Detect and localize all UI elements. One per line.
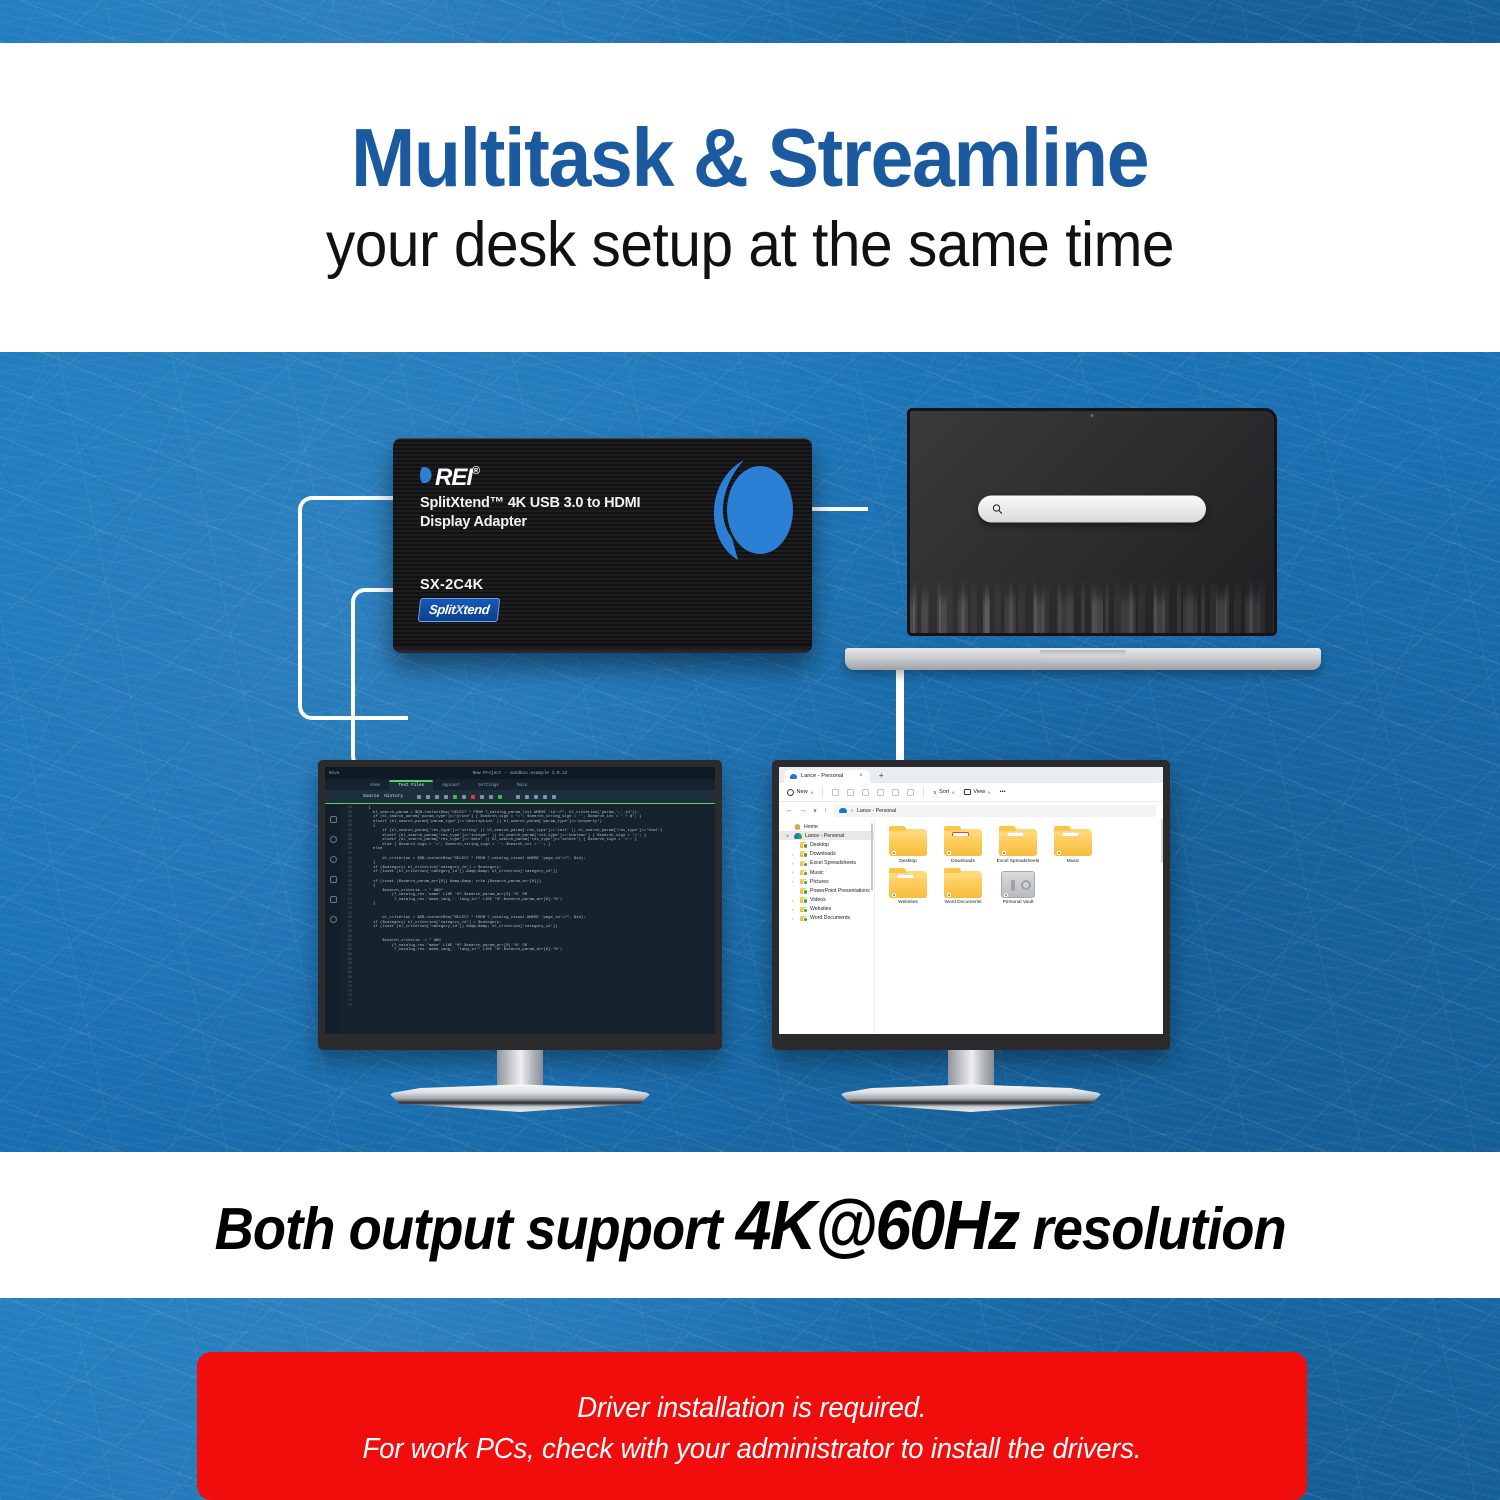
sidebar-item-label: Lance - Personal [805,833,844,839]
chevron-right-icon[interactable]: › [792,916,797,921]
ide-tool-icon-4[interactable] [444,795,448,799]
ide-rail-warning-icon[interactable] [330,816,337,823]
ide-tab-home[interactable]: Home [361,782,389,790]
sort-button[interactable]: ⇅ Sort ∨ [933,789,955,795]
splitxtend-badge: SplitXtend [418,598,501,622]
sidebar-item-music[interactable]: ›Music [779,868,874,877]
ide-rail-debug-icon[interactable] [330,856,337,863]
sidebar-item-label: Pictures [810,879,829,885]
chevron-right-icon[interactable]: › [792,879,797,884]
ide-tool-icon-8[interactable] [516,795,520,799]
file-item-label: Music [1067,859,1080,865]
onedrive-icon [794,833,802,839]
explorer-body: Home∨Lance - PersonalDesktop›Downloads›E… [779,819,1163,1034]
badge-text-right: tend [463,602,490,617]
page-subtitle: your desk setup at the same time [326,211,1174,280]
explorer-sidebar[interactable]: Home∨Lance - PersonalDesktop›Downloads›E… [779,819,875,1034]
file-item-label: Websites [898,900,918,906]
file-grid-item[interactable]: Desktop [884,827,932,865]
new-tab-button[interactable]: + [879,771,884,780]
ide-tab-main[interactable]: Main [508,782,536,790]
folder-icon [800,870,807,876]
ide-pause-icon[interactable] [462,795,466,799]
folder-icon [800,897,807,903]
orei-emblem-icon [698,452,798,572]
right-monitor-screen: Lance - Personal × + New ∨ [779,767,1163,1034]
ide-code-area[interactable]: { bl_search_param = $DB->selectRow("SELE… [355,804,715,1034]
resolution-banner: Both output support 4K@60Hz resolution [0,1152,1500,1298]
view-button[interactable]: View ∨ [964,789,991,795]
home-icon [794,824,801,830]
sort-icon: ⇅ [933,790,936,795]
ide-tool-icon-6[interactable] [489,795,493,799]
ide-tab-text-files[interactable]: Text Files [389,780,433,790]
explorer-tab-title: Lance - Personal [801,773,843,779]
chevron-right-icon[interactable]: › [792,907,797,912]
marketing-page: Multitask & Streamline your desk setup a… [0,0,1500,1500]
sync-status-badge [892,893,896,897]
folder-icon [800,851,807,857]
folder-icon [800,861,807,867]
ide-activity-rail[interactable] [325,804,341,1034]
file-grid-item[interactable]: Music [1049,827,1097,865]
file-item-label: Desktop [899,859,917,865]
sidebar-item-label: PowerPoint Presentations [810,888,870,894]
orei-swoosh-icon [420,464,434,486]
close-icon[interactable]: × [859,773,863,779]
view-icon [964,789,971,795]
ide-tool-icon-10[interactable] [534,795,538,799]
sidebar-item-downloads[interactable]: ›Downloads [779,850,874,859]
sync-status-badge [1002,851,1006,855]
file-grid-item[interactable]: Websites [884,869,932,907]
sidebar-item-powerpoint-presentations[interactable]: PowerPoint Presentations [779,886,874,895]
sidebar-item-label: Music [810,870,824,876]
orei-logo: REI® [420,464,479,492]
headline-section: Multitask & Streamline your desk setup a… [0,43,1500,352]
ide-title-bar: Nova New Project - sandbox.example 1.0.1… [325,767,715,779]
ide-tab-strip[interactable]: Home Text Files Appcast Settings Main [325,779,715,790]
ide-toolbar[interactable]: Source History [325,790,715,804]
folder-icon [800,879,807,885]
ide-tool-icon-5[interactable] [480,795,484,799]
adapter-product-line-1: SplitXtend™ 4K USB 3.0 to HDMI [420,495,640,511]
breadcrumb[interactable]: › Lance - Personal [834,805,1156,817]
sidebar-item-websites[interactable]: ›Websites [779,905,874,914]
ide-stop-icon[interactable] [471,795,475,799]
ide-project-label: New Project - sandbox.example 1.0.12 [473,771,568,776]
forward-button[interactable]: → [800,807,807,814]
sidebar-item-label: Desktop [810,842,829,848]
explorer-address-row[interactable]: ← → ∨ ↑ › Lance - Personal [779,802,1163,819]
explorer-active-tab[interactable]: Lance - Personal × [784,770,870,783]
ide-tool-icon-9[interactable] [525,795,529,799]
sync-status-badge [892,851,896,855]
file-icon-wrapper [1054,827,1092,856]
cut-icon[interactable] [832,789,839,796]
rename-icon[interactable] [877,789,884,796]
file-explorer-app: Lance - Personal × + New ∨ [779,767,1163,1034]
cable-laptop-drop [896,660,904,772]
chevron-right-icon[interactable]: › [792,870,797,875]
file-icon-wrapper [999,827,1037,856]
chevron-down-icon: ∨ [810,790,813,795]
webcam-icon [1091,414,1094,417]
sidebar-item-label: Websites [810,906,831,912]
copy-icon[interactable] [847,789,854,796]
folder-icon [800,842,807,848]
sidebar-item-pictures[interactable]: ›Pictures [779,877,874,886]
sidebar-item-desktop[interactable]: Desktop [779,840,874,849]
ide-run-icon[interactable] [453,795,457,799]
left-monitor-screen: Nova New Project - sandbox.example 1.0.1… [325,767,715,1034]
laptop-screen [907,408,1277,636]
driver-notice-banner: Driver installation is required. For wor… [197,1352,1307,1500]
folder-icon [800,916,807,922]
file-grid-item[interactable]: Word Documents [939,869,987,907]
recent-locations-button[interactable]: ∨ [813,808,817,814]
badge-text-left: Split [428,602,456,617]
ide-tool-icon-2[interactable] [426,795,430,799]
overflow-menu-button[interactable]: ••• [1000,789,1006,795]
file-grid-item[interactable]: Downloads [939,827,987,865]
ide-tool-icon-11[interactable] [543,795,547,799]
sync-status-badge [1057,851,1061,855]
ide-line-numbers: 3233343536373839404142434445464748495051… [341,804,354,1034]
search-input[interactable] [978,495,1206,522]
sidebar-item-word-documents[interactable]: ›Word Documents [779,914,874,923]
explorer-toolbar[interactable]: New ∨ [779,783,1163,802]
resolution-highlight: 4K@60Hz [736,1186,1019,1264]
sort-button-label: Sort [939,789,949,795]
adapter-model-number: SX-2C4K [420,577,483,593]
sidebar-scrollbar[interactable] [871,823,874,891]
chevron-right-icon[interactable]: ∨ [786,833,791,838]
notice-line-1: Driver installation is required. [577,1392,926,1425]
up-button[interactable]: ↑ [824,807,827,814]
adapter-product-line-2: Display Adapter [420,514,527,530]
explorer-content-pane[interactable]: DesktopDownloadsExcel SpreadsheetsMusicW… [875,819,1163,1034]
sidebar-item-label: Videos [810,897,826,903]
right-monitor-bezel: Lance - Personal × + New ∨ [772,760,1170,1050]
sidebar-item-label: Word Documents [810,915,850,921]
sidebar-item-home[interactable]: Home [779,822,874,831]
laptop-base [845,648,1321,670]
file-icon-wrapper [944,869,982,898]
registered-mark: ® [472,465,479,477]
clipboard-tools[interactable] [832,789,914,796]
search-icon [992,503,1003,514]
ide-rail-cursor-icon[interactable] [330,896,337,903]
toolbar-divider-2 [923,787,924,797]
file-icon-wrapper [944,827,982,856]
ide-rail-upload-icon[interactable] [330,876,337,883]
file-icon-wrapper [889,827,927,856]
content-scrollbar[interactable] [1161,819,1163,863]
folder-icon [800,888,807,894]
ide-tool-icon-3[interactable] [435,795,439,799]
sync-status-badge [947,893,951,897]
laptop-device [845,408,1321,670]
file-grid[interactable]: DesktopDownloadsExcel SpreadsheetsMusicW… [884,827,1114,906]
chevron-right-icon[interactable]: › [792,852,797,857]
ide-rail-target-icon[interactable] [330,836,337,843]
file-icon-wrapper [889,869,927,898]
onedrive-breadcrumb-icon [839,808,847,813]
chevron-down-icon-view: ∨ [988,790,991,795]
file-icon-wrapper [1001,869,1035,898]
notice-line-2: For work PCs, check with your administra… [363,1433,1142,1466]
ide-tool-icon-12[interactable] [552,795,556,799]
delete-icon[interactable] [907,789,914,796]
file-item-label: Word Documents [945,900,982,906]
file-item-label: Personal Vault [1003,900,1034,906]
sync-status-badge [947,851,951,855]
chevron-right-icon[interactable]: › [792,898,797,903]
ide-rail-settings-icon[interactable] [330,916,337,923]
paste-icon[interactable] [862,789,869,796]
sidebar-item-label: Excel Spreadsheets [810,860,856,866]
plus-circle-icon [787,789,794,796]
sidebar-item-label: Downloads [810,851,836,857]
file-grid-item[interactable]: Excel Spreadsheets [994,827,1042,865]
back-button[interactable]: ← [786,807,793,814]
ide-tab-appcast[interactable]: Appcast [433,782,469,790]
ide-history-button[interactable]: History [384,794,403,799]
resolution-text: Both output support 4K@60Hz resolution [214,1185,1285,1265]
sidebar-item-excel-spreadsheets[interactable]: ›Excel Spreadsheets [779,859,874,868]
sidebar-item-lance-personal[interactable]: ∨Lance - Personal [779,831,874,840]
share-icon[interactable] [892,789,899,796]
cityscape-wallpaper [910,577,1274,633]
ide-source-button[interactable]: Source [363,794,379,799]
ide-app-label: Nova [329,771,340,776]
sync-status-badge [1004,893,1008,897]
view-button-label: View [973,789,985,795]
folder-icon [800,907,807,913]
left-monitor-bezel: Nova New Project - sandbox.example 1.0.1… [318,760,722,1050]
top-blue-strip [0,0,1500,43]
file-item-label: Excel Spreadsheets [997,859,1040,865]
toolbar-divider [822,787,823,797]
code-editor-app: Nova New Project - sandbox.example 1.0.1… [325,767,715,1034]
onedrive-icon [790,774,797,779]
new-button-label: New [797,789,808,795]
resolution-suffix: resolution [1018,1196,1285,1262]
file-item-label: Downloads [951,859,975,865]
orei-brand-text: REI [435,464,472,492]
ide-tool-icon-7[interactable] [498,795,502,799]
chevron-right-icon[interactable]: › [792,861,797,866]
laptop-trackpad-notch [1040,650,1126,657]
sidebar-item-label: Home [804,824,818,830]
breadcrumb-separator: › [851,808,853,814]
ide-tool-icon-1[interactable] [417,795,421,799]
sidebar-item-videos[interactable]: ›Videos [779,896,874,905]
breadcrumb-path: Lance - Personal [857,808,896,814]
chevron-down-icon-sort: ∨ [952,790,955,795]
explorer-tab-bar[interactable]: Lance - Personal × + [779,767,1163,783]
file-grid-item[interactable]: Personal Vault [994,869,1042,907]
ide-tab-settings[interactable]: Settings [469,782,508,790]
resolution-prefix: Both output support [214,1196,735,1262]
page-title: Multitask & Streamline [351,114,1148,201]
splitxtend-adapter-device: REI® SplitXtend™ 4K USB 3.0 to HDMI Disp… [393,438,812,653]
new-button[interactable]: New ∨ [787,789,813,796]
